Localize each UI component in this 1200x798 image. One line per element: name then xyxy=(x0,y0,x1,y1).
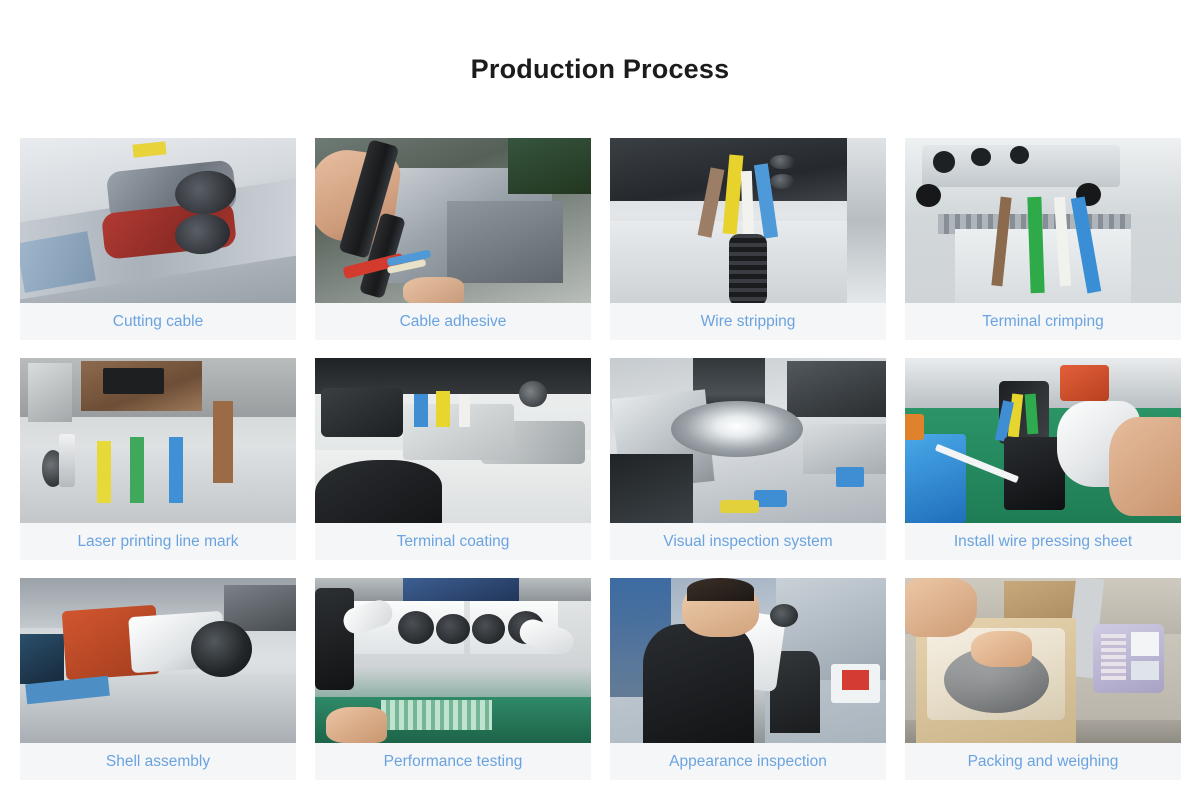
caption-terminal-crimping: Terminal crimping xyxy=(905,303,1181,340)
caption-appearance-inspection: Appearance inspection xyxy=(610,743,886,780)
photo-install-wire-pressing-sheet[interactable] xyxy=(905,358,1181,523)
caption-shell-assembly: Shell assembly xyxy=(20,743,296,780)
caption-wire-stripping: Wire stripping xyxy=(610,303,886,340)
process-card-cutting-cable[interactable]: Cutting cable xyxy=(20,138,296,340)
photo-cutting-cable[interactable] xyxy=(20,138,296,303)
production-process-page: Production Process Cutting cable Cable a… xyxy=(0,0,1200,798)
caption-cable-adhesive: Cable adhesive xyxy=(315,303,591,340)
photo-appearance-inspection[interactable] xyxy=(610,578,886,743)
process-card-appearance-inspection[interactable]: Appearance inspection xyxy=(610,578,886,780)
process-card-shell-assembly[interactable]: Shell assembly xyxy=(20,578,296,780)
process-card-terminal-coating[interactable]: Terminal coating xyxy=(315,358,591,560)
caption-packing-and-weighing: Packing and weighing xyxy=(905,743,1181,780)
process-card-visual-inspection-system[interactable]: Visual inspection system xyxy=(610,358,886,560)
process-card-install-wire-pressing-sheet[interactable]: Install wire pressing sheet xyxy=(905,358,1181,560)
photo-shell-assembly[interactable] xyxy=(20,578,296,743)
page-title: Production Process xyxy=(0,0,1200,86)
caption-cutting-cable: Cutting cable xyxy=(20,303,296,340)
process-card-performance-testing[interactable]: Performance testing xyxy=(315,578,591,780)
process-card-wire-stripping[interactable]: Wire stripping xyxy=(610,138,886,340)
photo-visual-inspection-system[interactable] xyxy=(610,358,886,523)
photo-cable-adhesive[interactable] xyxy=(315,138,591,303)
photo-performance-testing[interactable] xyxy=(315,578,591,743)
photo-wire-stripping[interactable] xyxy=(610,138,886,303)
process-card-terminal-crimping[interactable]: Terminal crimping xyxy=(905,138,1181,340)
caption-performance-testing: Performance testing xyxy=(315,743,591,780)
caption-visual-inspection-system: Visual inspection system xyxy=(610,523,886,560)
photo-laser-printing-line-mark[interactable] xyxy=(20,358,296,523)
photo-terminal-crimping[interactable] xyxy=(905,138,1181,303)
caption-terminal-coating: Terminal coating xyxy=(315,523,591,560)
photo-terminal-coating[interactable] xyxy=(315,358,591,523)
process-card-grid: Cutting cable Cable adhesive Wire stripp… xyxy=(20,138,1180,780)
process-card-laser-printing-line-mark[interactable]: Laser printing line mark xyxy=(20,358,296,560)
process-card-packing-and-weighing[interactable]: Packing and weighing xyxy=(905,578,1181,780)
process-card-cable-adhesive[interactable]: Cable adhesive xyxy=(315,138,591,340)
caption-laser-printing-line-mark: Laser printing line mark xyxy=(20,523,296,560)
caption-install-wire-pressing-sheet: Install wire pressing sheet xyxy=(905,523,1181,560)
photo-packing-and-weighing[interactable] xyxy=(905,578,1181,743)
